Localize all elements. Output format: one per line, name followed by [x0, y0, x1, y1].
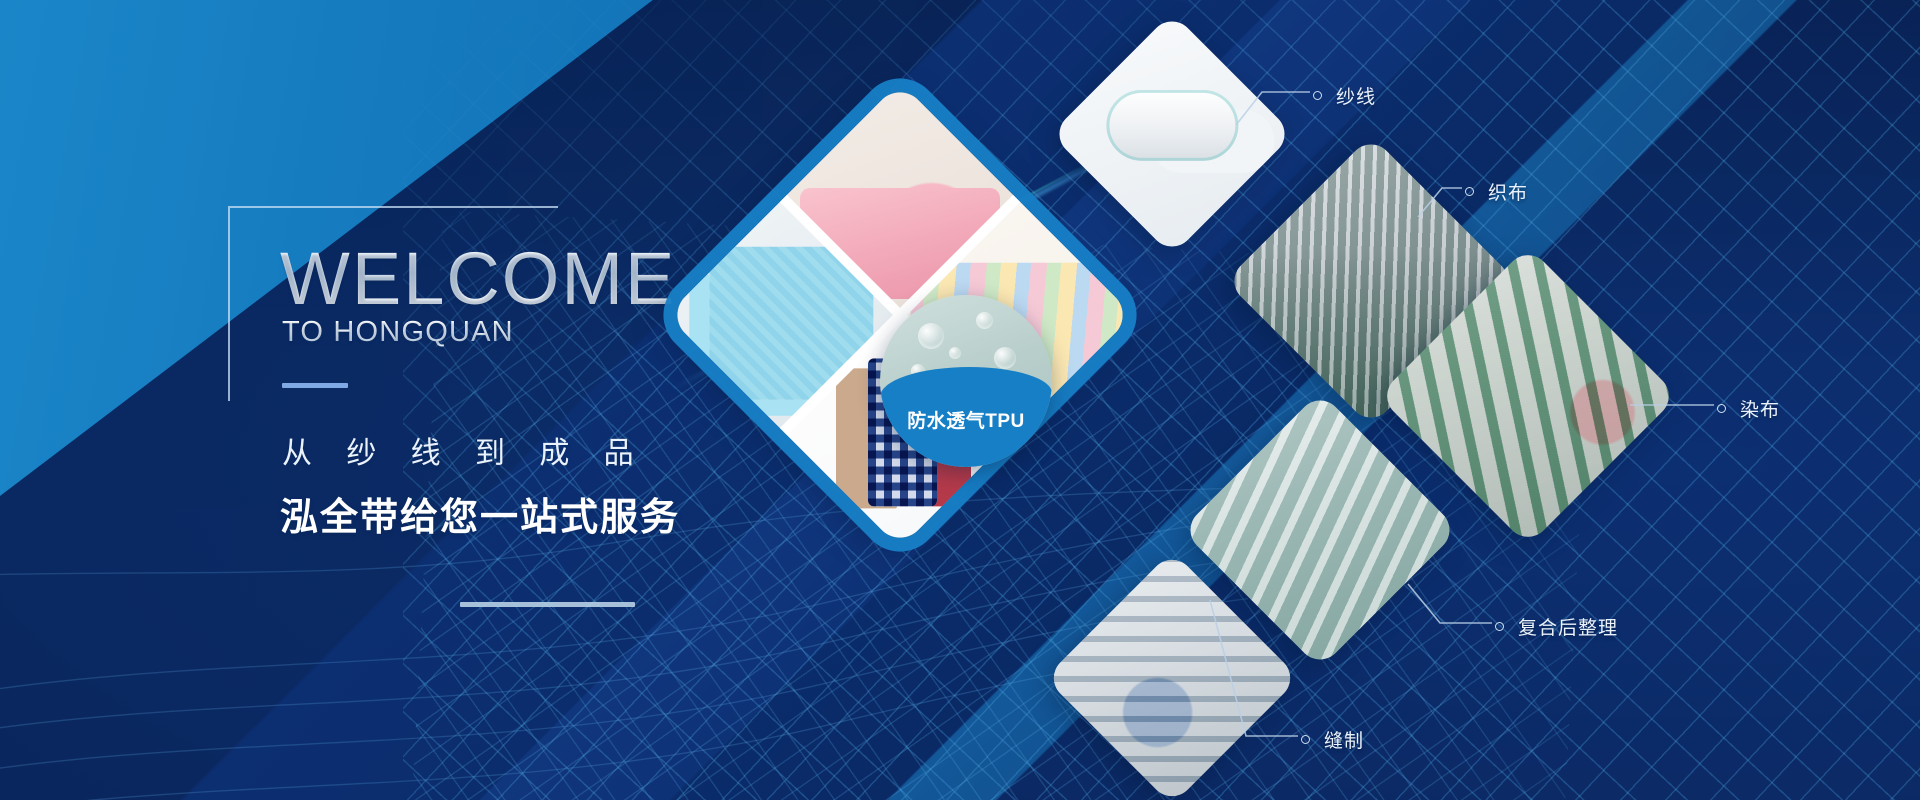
callout-label-sewing: 缝制 [1324, 726, 1364, 753]
callout-weaving[interactable]: 织布 [1465, 178, 1528, 205]
callout-dot-icon [1717, 404, 1726, 413]
callout-dot-icon [1301, 735, 1310, 744]
callout-dot-icon [1313, 91, 1322, 100]
tagline-bold: 泓全带给您一站式服务 [280, 486, 788, 541]
callout-label-laminating: 复合后整理 [1518, 613, 1618, 640]
callout-sewing[interactable]: 缝制 [1301, 726, 1364, 753]
bottom-accent-rule [460, 602, 635, 607]
callout-label-dyeing: 染布 [1740, 395, 1780, 422]
callout-dot-icon [1465, 187, 1474, 196]
callout-dyeing[interactable]: 染布 [1717, 395, 1780, 422]
callout-label-yarn: 纱线 [1336, 82, 1376, 109]
callout-label-weaving: 织布 [1488, 178, 1528, 205]
callout-laminating[interactable]: 复合后整理 [1495, 613, 1618, 640]
tpu-badge-label: 防水透气TPU [880, 406, 1052, 433]
headline-block: WELCOME TO HONGQUAN 从 纱 线 到 成 品 泓全带给您一站式… [228, 206, 788, 541]
callout-yarn[interactable]: 纱线 [1313, 82, 1376, 109]
callout-dot-icon [1495, 622, 1504, 631]
tpu-feature-badge[interactable]: 防水透气TPU [880, 295, 1052, 467]
hero-banner: WELCOME TO HONGQUAN 从 纱 线 到 成 品 泓全带给您一站式… [0, 0, 1920, 800]
tagline-light: 从 纱 线 到 成 品 [282, 428, 788, 472]
